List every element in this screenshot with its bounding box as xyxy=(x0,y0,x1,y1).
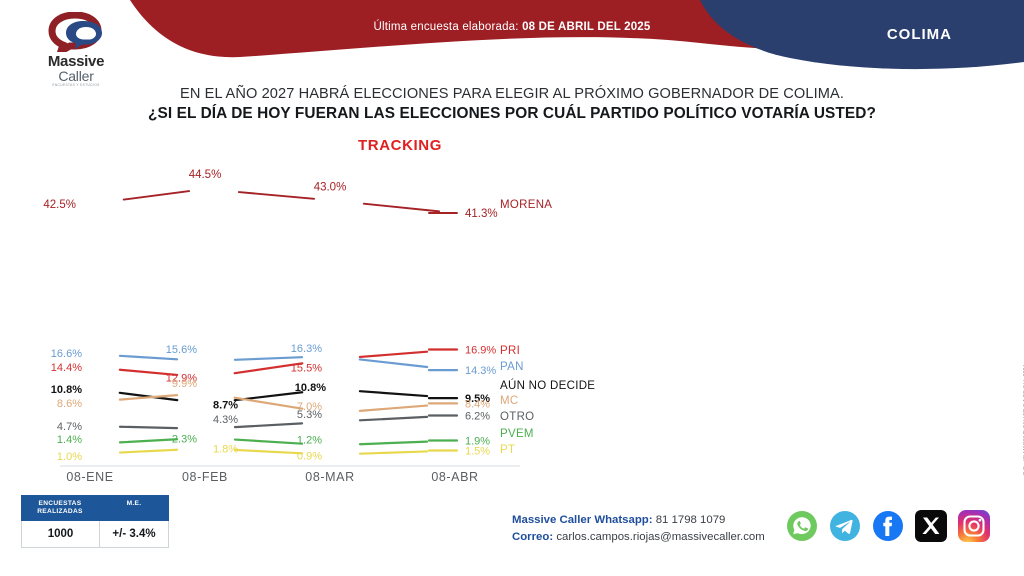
data-label: 1.8% xyxy=(213,443,238,455)
data-label: 8.7% xyxy=(213,400,238,412)
header-shapes xyxy=(0,0,1024,75)
data-label: 1.2% xyxy=(297,434,322,446)
contact-whatsapp-row: Massive Caller Whatsapp: 81 1798 1079 xyxy=(512,512,765,529)
series-otro: 4.7%4.3%5.3%6.2%OTRO xyxy=(57,409,535,433)
series-segment xyxy=(235,398,303,409)
series-segment xyxy=(235,450,302,453)
data-label: 9.9% xyxy=(172,378,197,390)
tracking-chart: TRACKING 42.5%44.5%43.0%41.3%MORENA16.6%… xyxy=(0,134,980,499)
series-segment xyxy=(360,352,427,357)
series-segment xyxy=(360,451,427,453)
series-segment xyxy=(235,423,302,427)
data-label: 41.3% xyxy=(465,208,498,220)
series-segment xyxy=(360,359,427,367)
series-segment xyxy=(124,191,189,200)
x-axis-tick-08-ene: 08-ENE xyxy=(66,470,113,484)
question-line-2: ¿SI EL DÍA DE HOY FUERAN LAS ELECCIONES … xyxy=(0,105,1024,123)
series-pri: 14.4%12.9%15.5%16.9%PRI xyxy=(51,345,520,385)
x-axis-tick-08-feb: 08-FEB xyxy=(182,470,228,484)
series-pt: 1.0%1.8%0.9%1.5%PT xyxy=(57,443,515,463)
contact-email-label: Correo: xyxy=(512,531,553,543)
x-twitter-icon[interactable] xyxy=(915,510,947,542)
series-segment xyxy=(239,192,314,199)
data-label: 14.3% xyxy=(465,365,496,377)
sample-size-table: ENCUESTAS REALIZADAS M.E. 1000 +/- 3.4% xyxy=(21,495,169,548)
series-segment xyxy=(235,440,302,444)
legend-label-pri: PRI xyxy=(500,345,520,357)
facebook-icon[interactable] xyxy=(872,510,904,542)
data-label: 4.7% xyxy=(57,421,82,433)
social-links xyxy=(786,510,990,542)
table-row: 1000 +/- 3.4% xyxy=(21,521,169,548)
logo-line1: Massive xyxy=(28,54,124,69)
data-label: 2.3% xyxy=(172,434,197,446)
tracking-plot-area: 42.5%44.5%43.0%41.3%MORENA16.6%15.6%16.3… xyxy=(0,134,980,499)
x-axis-tick-08-mar: 08-MAR xyxy=(305,470,354,484)
contact-whatsapp-label: Massive Caller Whatsapp: xyxy=(512,514,653,526)
series-morena: 42.5%44.5%43.0%41.3%MORENA xyxy=(43,169,552,220)
data-label: 43.0% xyxy=(314,181,347,193)
table-header-encuestas: ENCUESTAS REALIZADAS xyxy=(21,495,99,521)
data-label: 8.6% xyxy=(57,398,82,410)
table-header-row: ENCUESTAS REALIZADAS M.E. xyxy=(21,495,169,521)
data-label: 10.8% xyxy=(295,382,326,394)
series-segment xyxy=(120,450,177,453)
legend-label-pan: PAN xyxy=(500,361,524,373)
data-label: 15.5% xyxy=(291,362,322,374)
series-segment xyxy=(360,391,427,396)
logo-line2: Caller xyxy=(28,69,124,83)
data-label: 15.6% xyxy=(166,344,197,356)
series-pan: 16.6%15.6%16.3%14.3%PAN xyxy=(51,343,524,377)
slide-root: Última encuesta elaborada: 08 DE ABRIL D… xyxy=(0,0,1024,576)
logo-wordmark: Massive Caller ENCUESTAS Y ESTUDIOS xyxy=(28,54,124,87)
telegram-icon[interactable] xyxy=(829,510,861,542)
table-header-encuestas-l2: REALIZADAS xyxy=(23,508,97,516)
header-state-name: COLIMA xyxy=(887,26,952,43)
data-label: 16.9% xyxy=(465,345,496,357)
data-label: 44.5% xyxy=(189,169,222,181)
data-label: 5.3% xyxy=(297,409,322,421)
series-mc: 8.6%9.9%7.0%8.4%MC xyxy=(57,378,519,413)
series-segment xyxy=(360,417,427,420)
legend-label-pvem: PVEM xyxy=(500,428,534,440)
data-label: 1.0% xyxy=(57,451,82,463)
data-label: 0.9% xyxy=(297,451,322,463)
series-segment xyxy=(120,439,177,442)
data-label: 6.2% xyxy=(465,411,490,423)
series-segment xyxy=(120,427,177,428)
table-header-encuestas-l1: ENCUESTAS xyxy=(23,500,97,508)
table-header-me: M.E. xyxy=(99,495,169,521)
data-label: 1.4% xyxy=(57,434,82,446)
series-segment xyxy=(360,406,427,411)
legend-label-morena: MORENA xyxy=(500,199,552,211)
table-cell-sample-size: 1000 xyxy=(21,521,99,548)
instagram-icon[interactable] xyxy=(958,510,990,542)
contact-email-row: Correo: carlos.campos.riojas@massivecall… xyxy=(512,529,765,546)
data-label: 14.4% xyxy=(51,362,82,374)
whatsapp-icon[interactable] xyxy=(786,510,818,542)
speech-bubble-logo-icon xyxy=(28,12,124,52)
legend-label-an-no-decide: AÚN NO DECIDE xyxy=(500,379,595,392)
series-segment xyxy=(360,442,427,445)
data-label: 1.5% xyxy=(465,446,490,458)
header-navy-arc xyxy=(700,0,1024,69)
header-date-value: 08 DE ABRIL DEL 2025 xyxy=(522,21,650,33)
question-line-1: EN EL AÑO 2027 HABRÁ ELECCIONES PARA ELE… xyxy=(0,86,1024,102)
data-label: 16.3% xyxy=(291,343,322,355)
header-banner: Última encuesta elaborada: 08 DE ABRIL D… xyxy=(0,0,1024,75)
series-segment xyxy=(364,204,439,212)
header-date: Última encuesta elaborada: 08 DE ABRIL D… xyxy=(0,21,1024,33)
legend-label-otro: OTRO xyxy=(500,411,534,423)
data-label: 4.3% xyxy=(213,414,238,426)
data-label: 16.6% xyxy=(51,348,82,360)
series-segment xyxy=(120,356,177,359)
contact-whatsapp-value: 81 1798 1079 xyxy=(656,514,726,526)
legend-label-mc: MC xyxy=(500,395,519,407)
x-axis-labels: 08-ENE08-FEB08-MAR08-ABR xyxy=(0,470,800,494)
logo-mark-icon xyxy=(28,12,124,52)
x-axis-tick-08-abr: 08-ABR xyxy=(431,470,478,484)
data-label: 8.4% xyxy=(465,398,490,410)
contact-info: Massive Caller Whatsapp: 81 1798 1079 Co… xyxy=(512,512,765,545)
series-segment xyxy=(235,357,302,360)
series-pvem: 1.4%2.3%1.2%1.9%PVEM xyxy=(57,428,534,448)
contact-email-value: carlos.campos.riojas@massivecaller.com xyxy=(556,531,764,543)
question-title: EN EL AÑO 2027 HABRÁ ELECCIONES PARA ELE… xyxy=(0,86,1024,123)
data-label: 42.5% xyxy=(43,199,76,211)
legend-label-pt: PT xyxy=(500,444,515,456)
massive-caller-logo: Massive Caller ENCUESTAS Y ESTUDIOS xyxy=(28,12,124,80)
header-date-label: Última encuesta elaborada: xyxy=(373,21,518,33)
table-cell-margin-error: +/- 3.4% xyxy=(99,521,169,548)
data-label: 10.8% xyxy=(51,384,82,396)
